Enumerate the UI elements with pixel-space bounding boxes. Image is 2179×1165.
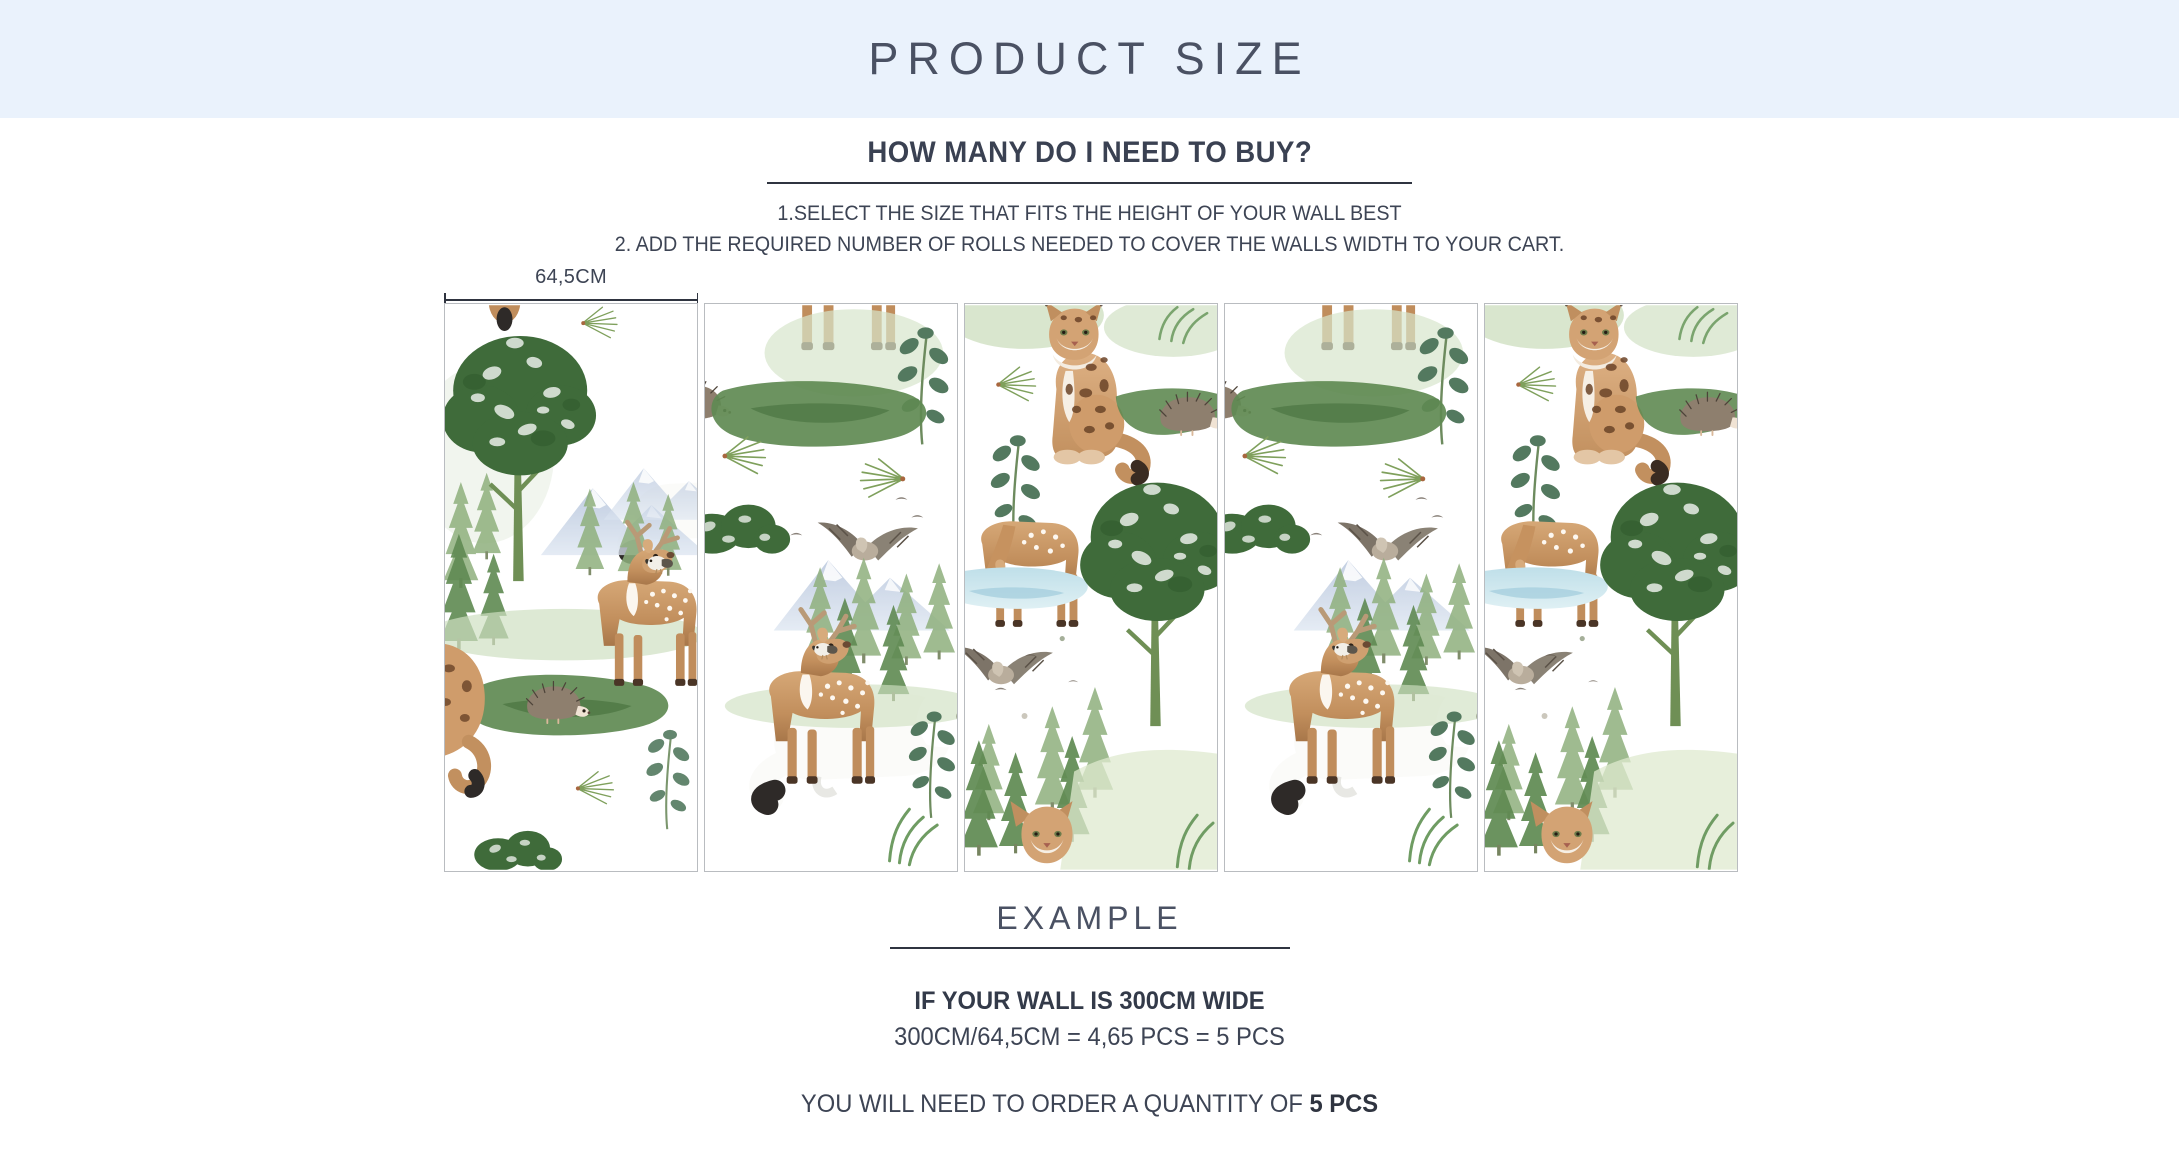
dimension-bracket: 64,5CM [444,266,698,305]
example-divider [890,947,1290,949]
example-title: EXAMPLE [0,900,2179,937]
panel-artwork-1 [445,304,697,871]
wallpaper-panel-4[interactable] [1224,303,1478,872]
panel-artwork-5 [1485,304,1737,871]
wallpaper-panel-3[interactable] [964,303,1218,872]
wallpaper-panel-strip [444,303,1738,872]
example-calculation: 300CM/64,5CM = 4,65 PCS = 5 PCS [54,1023,2124,1052]
intro-divider [767,182,1412,184]
wallpaper-panel-2[interactable] [704,303,958,872]
example-order-quantity: YOU WILL NEED TO ORDER A QUANTITY OF 5 P… [54,1090,2124,1119]
dimension-line [444,299,698,301]
intro-steps: 1.SELECT THE SIZE THAT FITS THE HEIGHT O… [0,198,2179,260]
example-order-amount: 5 PCS [1309,1090,1378,1118]
dimension-label: 64,5CM [444,266,698,289]
intro-step-2: 2. ADD THE REQUIRED NUMBER OF ROLLS NEED… [65,229,2113,260]
example-section: EXAMPLE IF YOUR WALL IS 300CM WIDE 300CM… [0,900,2179,1119]
wallpaper-panel-1[interactable] [444,303,698,872]
wallpaper-panel-5[interactable] [1484,303,1738,872]
panel-artwork-4 [1225,304,1477,871]
page-title: PRODUCT SIZE [868,33,1310,85]
intro-section: HOW MANY DO I NEED TO BUY? 1.SELECT THE … [0,118,2179,260]
panel-artwork-2 [705,304,957,871]
intro-heading: HOW MANY DO I NEED TO BUY? [867,136,1312,170]
header-band: PRODUCT SIZE [0,0,2179,118]
example-order-prefix: YOU WILL NEED TO ORDER A QUANTITY OF [801,1090,1310,1118]
intro-step-1: 1.SELECT THE SIZE THAT FITS THE HEIGHT O… [65,198,2113,229]
panel-artwork-3 [965,304,1217,871]
example-wall-width: IF YOUR WALL IS 300CM WIDE [54,987,2124,1016]
